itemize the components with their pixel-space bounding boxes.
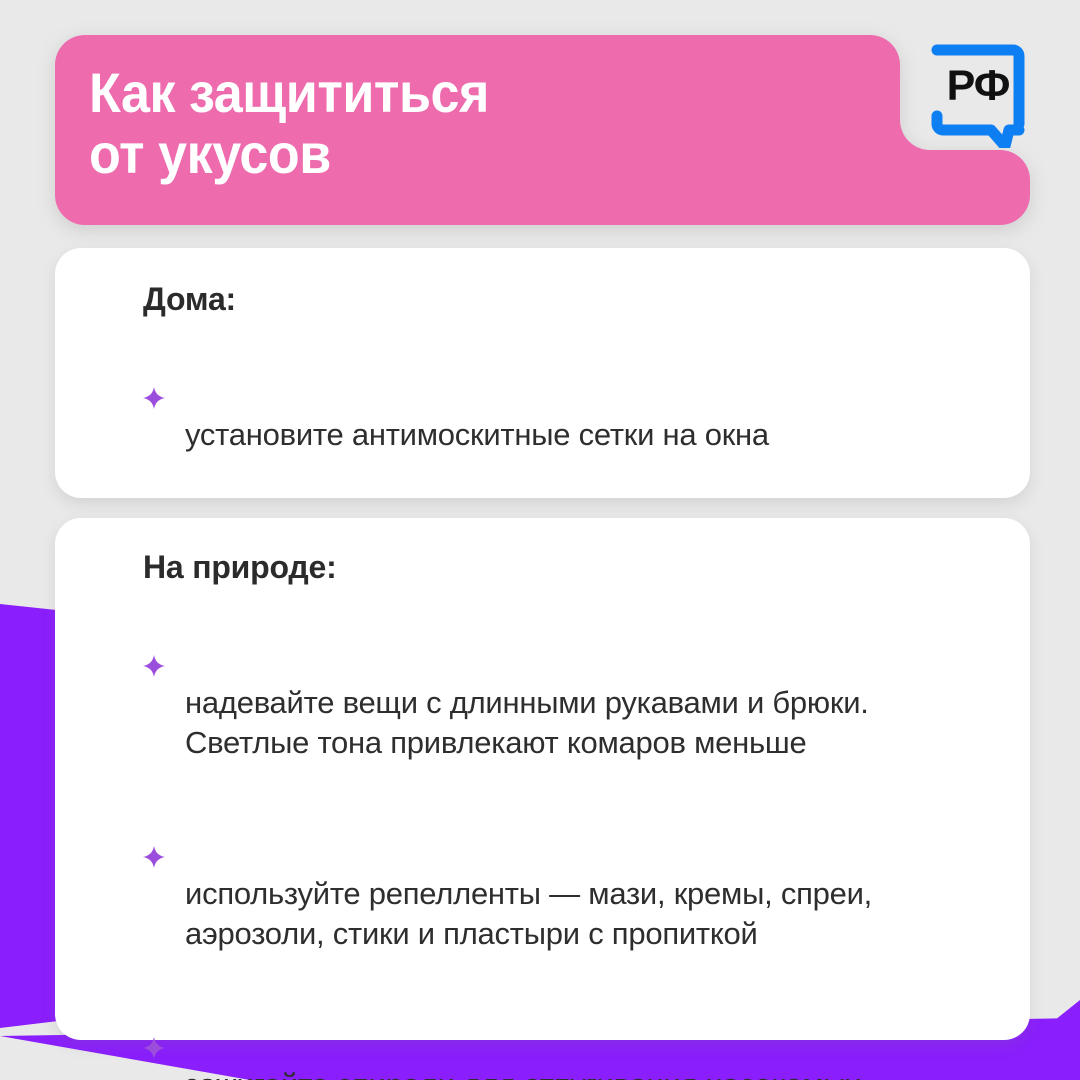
card-home-heading: Дома: [143, 280, 988, 318]
diamond-bullet-icon [143, 346, 165, 368]
diamond-bullet-icon [143, 614, 165, 636]
card-outdoor-heading: На природе: [143, 548, 988, 586]
list-item-text: надевайте вещи с длинными рукавами и брю… [185, 685, 869, 760]
card-outdoor-bullet-list: надевайте вещи с длинными рукавами и брю… [143, 602, 988, 1080]
list-item: используйте репелленты — мази, кремы, сп… [143, 794, 988, 955]
list-item-text: используйте репелленты — мази, кремы, сп… [185, 876, 872, 951]
rf-logo-text: РФ [947, 62, 1010, 110]
diamond-bullet-icon [143, 806, 165, 828]
list-item: зажигайте спирали для отпугивания насеко… [143, 985, 988, 1080]
list-item: надевайте вещи с длинными рукавами и брю… [143, 602, 988, 763]
list-item-text: установите антимоскитные сетки на окна [185, 417, 769, 452]
rf-logo: РФ [925, 38, 1031, 148]
infographic-canvas: Как защититься от укусов РФ Дома: [0, 0, 1080, 1080]
card-home: Дома: установите антимоскитные сетки на … [55, 248, 1030, 498]
card-outdoor: На природе: надевайте вещи с длинными ру… [55, 518, 1030, 1040]
diamond-bullet-icon [143, 489, 165, 511]
header-banner: Как защититься от укусов РФ [0, 0, 1080, 250]
diamond-bullet-icon [143, 997, 165, 1019]
list-item-text: зажигайте спирали для отпугивания насеко… [185, 1067, 861, 1080]
list-item: установите антимоскитные сетки на окна [143, 334, 988, 455]
page-title: Как защититься от укусов [89, 62, 796, 184]
